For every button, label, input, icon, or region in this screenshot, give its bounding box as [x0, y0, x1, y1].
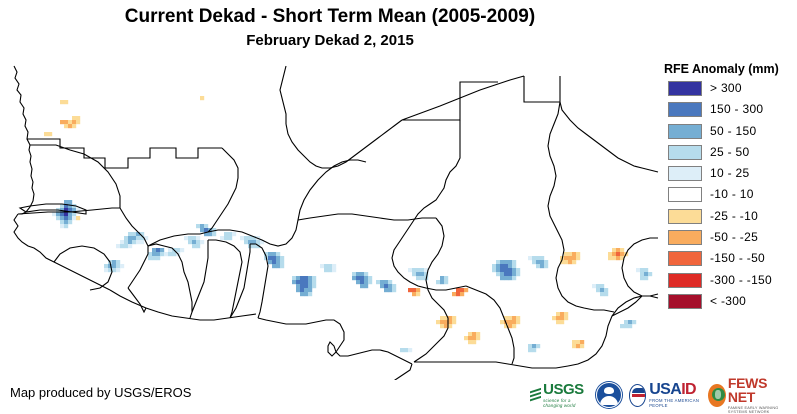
anomaly-cell	[412, 292, 416, 296]
anomaly-cell	[568, 252, 572, 256]
fewsnet-logo-text: FEWS NET	[728, 376, 797, 404]
anomaly-cell	[116, 264, 120, 268]
anomaly-cell	[564, 312, 568, 316]
anomaly-cell	[352, 276, 356, 280]
anomaly-cell	[304, 292, 308, 296]
anomaly-cell	[172, 252, 176, 256]
anomaly-cell	[124, 240, 128, 244]
anomaly-cell	[196, 240, 200, 244]
usaid-logo[interactable]: USAID FROM THE AMERICAN PEOPLE	[629, 382, 702, 408]
anomaly-cell	[296, 276, 300, 280]
anomaly-cell	[148, 252, 152, 256]
anomaly-cell	[304, 288, 308, 292]
anomaly-cell	[272, 252, 276, 256]
anomaly-cell	[512, 272, 516, 276]
anomaly-cell	[616, 256, 620, 260]
anomaly-cell	[276, 256, 280, 260]
anomaly-cell	[640, 276, 644, 280]
anomaly-cell	[116, 268, 120, 272]
anomaly-cell	[292, 280, 296, 284]
anomaly-cell	[272, 264, 276, 268]
anomaly-cell	[364, 276, 368, 280]
anomaly-cell	[604, 288, 608, 292]
anomaly-cell	[500, 276, 504, 280]
anomaly-cell	[444, 276, 448, 280]
anomaly-cell	[52, 212, 56, 216]
anomaly-cell	[516, 320, 520, 324]
anomaly-cell	[140, 240, 144, 244]
anomaly-cell	[564, 260, 568, 264]
anomaly-cell	[644, 268, 648, 272]
anomaly-cell	[192, 236, 196, 240]
anomaly-cell	[364, 280, 368, 284]
anomaly-cell	[116, 244, 120, 248]
anomaly-cell	[616, 252, 620, 256]
anomaly-cell	[536, 344, 540, 348]
anomaly-cell	[504, 276, 508, 280]
anomaly-cell	[440, 320, 444, 324]
anomaly-cell	[240, 236, 244, 240]
anomaly-cell	[516, 316, 520, 320]
anomaly-cell	[196, 244, 200, 248]
legend-panel: RFE Anomaly (mm) > 300150 - 30050 - 1502…	[658, 62, 797, 312]
anomaly-cell	[412, 288, 416, 292]
anomaly-cell	[384, 280, 388, 284]
anomaly-cell	[576, 340, 580, 344]
anomaly-cell	[568, 260, 572, 264]
anomaly-cell	[508, 320, 512, 324]
anomaly-cell	[468, 340, 472, 344]
anomaly-cell	[276, 260, 280, 264]
anomaly-cell	[184, 236, 188, 240]
anomaly-cell	[508, 268, 512, 272]
map-background	[0, 62, 662, 380]
legend-swatch	[668, 145, 702, 160]
anomaly-cell	[104, 268, 108, 272]
anomaly-cell	[276, 264, 280, 268]
anomaly-cell	[252, 244, 256, 248]
anomaly-cell	[532, 256, 536, 260]
anomaly-cell	[112, 268, 116, 272]
anomaly-cell	[504, 272, 508, 276]
anomaly-cell	[320, 264, 324, 268]
anomaly-cell	[444, 280, 448, 284]
anomaly-cell	[300, 276, 304, 280]
anomaly-cell	[496, 260, 500, 264]
anomaly-cell	[360, 272, 364, 276]
anomaly-cell	[160, 248, 164, 252]
anomaly-cell	[48, 132, 52, 136]
legend-swatch	[668, 124, 702, 139]
anomaly-cell	[356, 280, 360, 284]
anomaly-cell	[244, 240, 248, 244]
anomaly-cell	[200, 96, 204, 100]
anomaly-cell	[508, 316, 512, 320]
anomaly-cell	[540, 256, 544, 260]
anomaly-cell	[552, 316, 556, 320]
anomaly-cell	[192, 244, 196, 248]
legend-item[interactable]: -150 - -50	[658, 251, 797, 272]
legend-label: -300 - -150	[710, 273, 772, 288]
anomaly-cell	[560, 312, 564, 316]
anomaly-cell	[56, 216, 60, 220]
anomaly-cell	[376, 280, 380, 284]
anomaly-cell	[400, 348, 404, 352]
anomaly-cell	[392, 284, 396, 288]
anomaly-cell	[508, 324, 512, 328]
anomaly-cell	[500, 260, 504, 264]
anomaly-cell	[76, 116, 80, 120]
anomaly-cell	[600, 284, 604, 288]
anomaly-cell	[380, 280, 384, 284]
anomaly-cell	[388, 284, 392, 288]
anomaly-cell	[208, 232, 212, 236]
legend-title: RFE Anomaly (mm)	[664, 62, 797, 76]
anomaly-cell	[324, 268, 328, 272]
anomaly-cell	[328, 268, 332, 272]
anomaly-cell	[636, 268, 640, 272]
anomaly-cell	[60, 212, 64, 216]
anomaly-cell	[220, 236, 224, 240]
anomaly-cell	[576, 252, 580, 256]
usaid-seal-icon	[629, 384, 647, 407]
anomaly-cell	[304, 280, 308, 284]
legend-swatch	[668, 102, 702, 117]
anomaly-cell	[632, 320, 636, 324]
anomaly-cell	[68, 216, 72, 220]
anomaly-cell	[224, 232, 228, 236]
anomaly-cell	[248, 236, 252, 240]
anomaly-cell	[308, 280, 312, 284]
legend-label: 25 - 50	[710, 145, 749, 160]
anomaly-cell	[312, 280, 316, 284]
anomaly-cell	[120, 240, 124, 244]
anomaly-cell	[508, 276, 512, 280]
noaa-logo[interactable]	[596, 382, 622, 408]
anomaly-cell	[504, 264, 508, 268]
anomaly-cell	[408, 348, 412, 352]
anomaly-cell	[564, 256, 568, 260]
anomaly-cell	[308, 288, 312, 292]
anomaly-cell	[360, 284, 364, 288]
anomaly-cell	[644, 272, 648, 276]
anomaly-cell	[440, 324, 444, 328]
anomaly-cell	[508, 272, 512, 276]
legend-swatch	[668, 273, 702, 288]
anomaly-cell	[156, 252, 160, 256]
anomaly-cell	[620, 252, 624, 256]
anomaly-cell	[292, 276, 296, 280]
anomaly-cell	[136, 236, 140, 240]
anomaly-cell	[128, 236, 132, 240]
legend-swatch	[668, 187, 702, 202]
legend-item[interactable]: -25 - -10	[658, 209, 797, 230]
anomaly-cell	[300, 284, 304, 288]
anomaly-cell	[544, 260, 548, 264]
anomaly-cell	[64, 224, 68, 228]
anomaly-cell	[580, 340, 584, 344]
anomaly-cell	[512, 316, 516, 320]
anomaly-cell	[132, 232, 136, 236]
anomaly-cell	[556, 316, 560, 320]
anomaly-cell	[68, 212, 72, 216]
anomaly-cell	[312, 284, 316, 288]
anomaly-cell	[644, 276, 648, 280]
anomaly-cell	[608, 252, 612, 256]
legend-item[interactable]: -50 - -25	[658, 230, 797, 251]
anomaly-cell	[280, 256, 284, 260]
anomaly-cell	[268, 252, 272, 256]
anomaly-cell	[364, 284, 368, 288]
anomaly-cell	[416, 292, 420, 296]
anomaly-cell	[528, 256, 532, 260]
anomaly-cell	[104, 264, 108, 268]
anomaly-cell	[456, 288, 460, 292]
anomaly-cell	[304, 276, 308, 280]
anomaly-cell	[132, 236, 136, 240]
anomaly-cell	[404, 348, 408, 352]
anomaly-cell	[580, 344, 584, 348]
legend-label: > 300	[710, 81, 742, 96]
anomaly-cell	[72, 116, 76, 120]
title-block: Current Dekad - Short Term Mean (2005-20…	[0, 4, 660, 52]
anomaly-cell	[332, 264, 336, 268]
anomaly-cell	[64, 100, 68, 104]
anomaly-cell	[496, 268, 500, 272]
legend-item[interactable]: 150 - 300	[658, 102, 797, 123]
anomaly-cell	[612, 248, 616, 252]
legend-item[interactable]: < -300	[658, 294, 797, 315]
anomaly-cell	[512, 264, 516, 268]
anomaly-cell	[640, 272, 644, 276]
legend-label: -25 - -10	[710, 209, 758, 224]
anomaly-cell	[648, 272, 652, 276]
anomaly-cell	[440, 280, 444, 284]
anomaly-cell	[228, 236, 232, 240]
anomaly-cell	[604, 292, 608, 296]
anomaly-cell	[512, 324, 516, 328]
legend-label: 10 - 25	[710, 166, 749, 181]
anomaly-cell	[64, 124, 68, 128]
legend-label: 50 - 150	[710, 124, 756, 139]
anomaly-cell	[384, 284, 388, 288]
anomaly-cell	[160, 252, 164, 256]
anomaly-cell	[640, 268, 644, 272]
anomaly-cell	[232, 232, 236, 236]
anomaly-cell	[304, 284, 308, 288]
legend-item[interactable]: 10 - 25	[658, 166, 797, 187]
noaa-seal-icon	[596, 382, 622, 408]
anomaly-cell	[68, 120, 72, 124]
anomaly-cell	[416, 268, 420, 272]
anomaly-cell	[56, 212, 60, 216]
page-subtitle: February Dekad 2, 2015	[0, 30, 660, 52]
anomaly-cell	[476, 332, 480, 336]
anomaly-cell	[168, 248, 172, 252]
anomaly-cell	[628, 320, 632, 324]
anomaly-cell	[460, 292, 464, 296]
anomaly-cell	[448, 316, 452, 320]
anomaly-cell	[364, 272, 368, 276]
anomaly-cell	[360, 280, 364, 284]
anomaly-cell	[528, 348, 532, 352]
anomaly-cell	[544, 264, 548, 268]
legend-item[interactable]: 25 - 50	[658, 145, 797, 166]
anomaly-cell	[416, 272, 420, 276]
anomaly-cell	[452, 316, 456, 320]
anomaly-cell	[572, 260, 576, 264]
usgs-logo[interactable]: USGS science for a changing world	[530, 382, 589, 408]
anomaly-cell	[468, 336, 472, 340]
anomaly-cell	[456, 292, 460, 296]
map-credit: Map produced by USGS/EROS	[10, 385, 191, 400]
legend-label: -150 - -50	[710, 251, 765, 266]
anomaly-cell	[468, 332, 472, 336]
anomaly-cell	[60, 100, 64, 104]
anomaly-cell	[516, 268, 520, 272]
anomaly-cell	[572, 344, 576, 348]
anomaly-cell	[296, 284, 300, 288]
anomaly-cell	[368, 280, 372, 284]
anomaly-cell	[164, 252, 168, 256]
legend-swatch	[668, 294, 702, 309]
anomaly-cell	[452, 320, 456, 324]
anomaly-cell	[464, 288, 468, 292]
anomaly-cell	[492, 264, 496, 268]
page-title: Current Dekad - Short Term Mean (2005-20…	[0, 4, 660, 30]
anomaly-cell	[368, 276, 372, 280]
anomaly-cell	[380, 284, 384, 288]
anomaly-cell	[72, 120, 76, 124]
usgs-logo-tagline: science for a changing world	[543, 398, 588, 408]
anomaly-cell	[272, 260, 276, 264]
anomaly-cell	[64, 220, 68, 224]
anomaly-cell	[576, 344, 580, 348]
anomaly-cell	[296, 280, 300, 284]
anomaly-cell	[500, 268, 504, 272]
anomaly-cell	[204, 224, 208, 228]
anomaly-cell	[76, 216, 80, 220]
anomaly-cell	[268, 260, 272, 264]
anomaly-cell	[392, 288, 396, 292]
anomaly-cell	[596, 284, 600, 288]
anomaly-cell	[540, 264, 544, 268]
legend-label: < -300	[710, 294, 746, 309]
anomaly-cell	[460, 288, 464, 292]
anomaly-cell	[612, 256, 616, 260]
anomaly-cell	[136, 240, 140, 244]
anomaly-cell	[152, 256, 156, 260]
anomaly-cell	[128, 232, 132, 236]
anomaly-cell	[472, 340, 476, 344]
anomaly-cell	[188, 240, 192, 244]
anomaly-cell	[536, 256, 540, 260]
anomaly-cell	[416, 276, 420, 280]
anomaly-cell	[112, 264, 116, 268]
anomaly-cell	[116, 260, 120, 264]
anomaly-cell	[196, 224, 200, 228]
anomaly-cell	[440, 316, 444, 320]
anomaly-cell	[528, 344, 532, 348]
legend-rows: > 300150 - 30050 - 15025 - 5010 - 25-10 …	[658, 81, 797, 315]
anomaly-cell	[620, 248, 624, 252]
anomaly-cell	[508, 260, 512, 264]
anomaly-cell	[360, 276, 364, 280]
anomaly-cell	[256, 240, 260, 244]
anomaly-cell	[436, 280, 440, 284]
anomaly-cell	[452, 292, 456, 296]
anomaly-cell	[564, 316, 568, 320]
anomaly-cell	[200, 228, 204, 232]
anomaly-cell	[228, 232, 232, 236]
anomaly-cell	[300, 280, 304, 284]
anomaly-cell	[512, 260, 516, 264]
anomaly-cell	[628, 324, 632, 328]
anomaly-cell	[68, 200, 72, 204]
map-svg[interactable]	[0, 62, 662, 380]
anomaly-cell	[472, 332, 476, 336]
anomaly-cell	[64, 212, 68, 216]
anomaly-cell	[352, 272, 356, 276]
anomaly-cell	[532, 260, 536, 264]
anomaly-cell	[272, 256, 276, 260]
anomaly-cell	[192, 240, 196, 244]
anomaly-cell	[448, 324, 452, 328]
anomaly-cell	[624, 324, 628, 328]
anomaly-cell	[152, 252, 156, 256]
legend-item[interactable]: 50 - 150	[658, 124, 797, 145]
anomaly-cell	[592, 284, 596, 288]
anomaly-cell	[332, 268, 336, 272]
anomaly-cell	[388, 288, 392, 292]
legend-swatch	[668, 251, 702, 266]
anomaly-cell	[308, 292, 312, 296]
anomaly-cell	[600, 288, 604, 292]
legend-label: -50 - -25	[710, 230, 758, 245]
anomaly-cell	[196, 236, 200, 240]
anomaly-cell	[168, 252, 172, 256]
anomaly-cell	[124, 244, 128, 248]
anomaly-cell	[280, 260, 284, 264]
anomaly-cell	[504, 260, 508, 264]
fewsnet-logo[interactable]: FEWS NET FAMINE EARLY WARNING SYSTEMS NE…	[708, 382, 797, 408]
anomaly-cell	[188, 236, 192, 240]
legend-item[interactable]: > 300	[658, 81, 797, 102]
anomaly-cell	[72, 216, 76, 220]
legend-label: -10 - 10	[710, 187, 754, 202]
anomaly-cell	[60, 120, 64, 124]
anomaly-cell	[408, 288, 412, 292]
anomaly-cell	[496, 264, 500, 268]
map-canvas[interactable]	[0, 62, 662, 380]
anomaly-cell	[532, 344, 536, 348]
anomaly-cell	[300, 292, 304, 296]
legend-item[interactable]: -10 - 10	[658, 187, 797, 208]
legend-item[interactable]: -300 - -150	[658, 273, 797, 294]
anomaly-cell	[244, 236, 248, 240]
anomaly-cell	[572, 340, 576, 344]
anomaly-cell	[420, 272, 424, 276]
anomaly-cell	[624, 320, 628, 324]
anomaly-cell	[500, 264, 504, 268]
anomaly-cell	[200, 240, 204, 244]
anomaly-cell	[420, 276, 424, 280]
anomaly-cell	[124, 236, 128, 240]
anomaly-cell	[476, 336, 480, 340]
anomaly-cell	[224, 236, 228, 240]
anomaly-cell	[276, 252, 280, 256]
anomaly-cell	[156, 256, 160, 260]
